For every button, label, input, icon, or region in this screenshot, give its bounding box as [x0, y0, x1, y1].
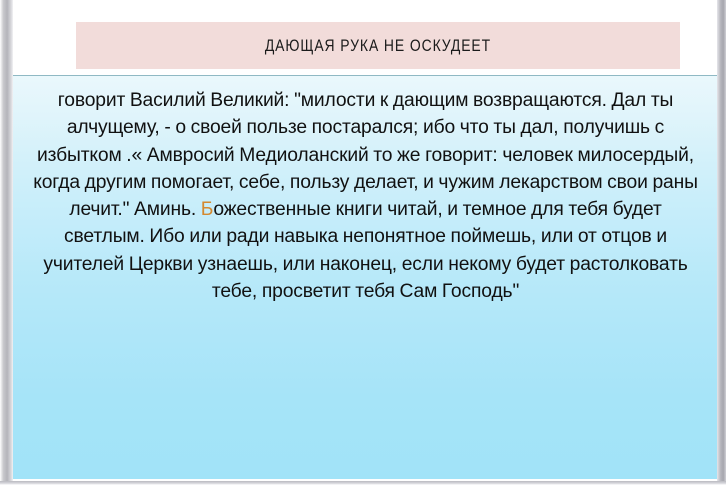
- content-panel: говорит Василий Великий: "милости к дающ…: [13, 75, 718, 479]
- page-left-edge: [0, 0, 13, 485]
- accent-drop-letter: Б: [201, 199, 214, 220]
- page-right-edge: [717, 0, 726, 485]
- body-paragraph: говорит Василий Великий: "милости к дающ…: [13, 76, 718, 305]
- page-root: ДАЮЩАЯ РУКА НЕ ОСКУДЕЕТ говорит Василий …: [0, 0, 726, 485]
- page-title: ДАЮЩАЯ РУКА НЕ ОСКУДЕЕТ: [265, 36, 491, 56]
- title-banner: ДАЮЩАЯ РУКА НЕ ОСКУДЕЕТ: [76, 22, 680, 69]
- page-bottom-edge: [0, 481, 726, 485]
